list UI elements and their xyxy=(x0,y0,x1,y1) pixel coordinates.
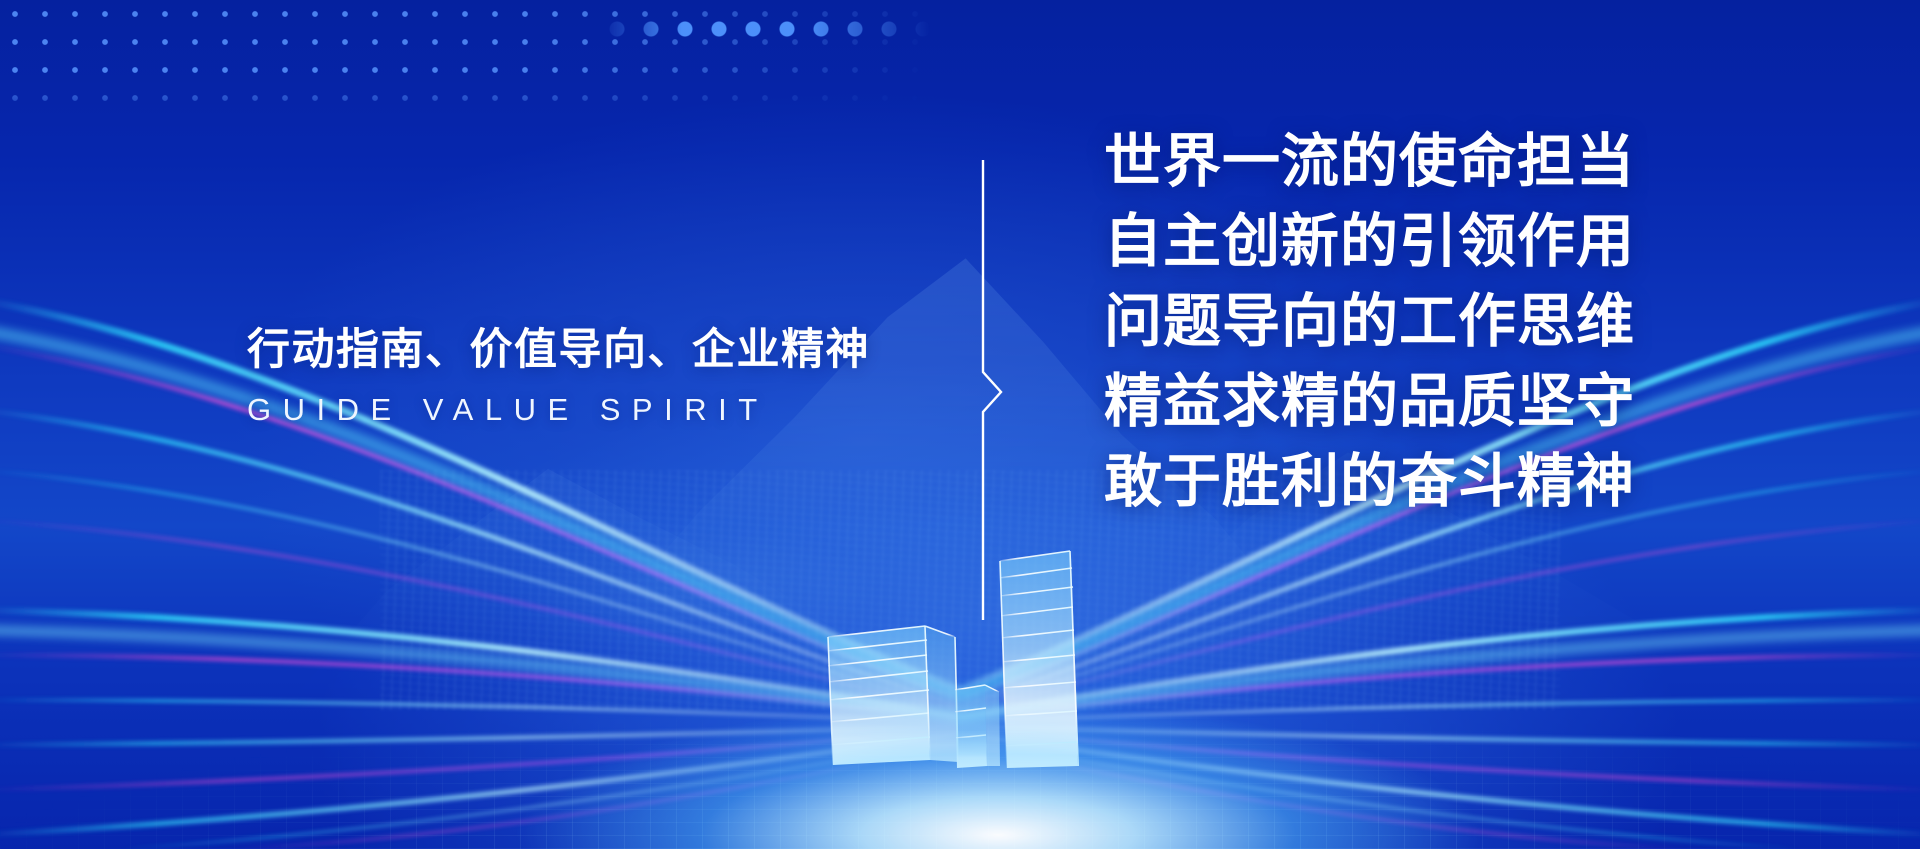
guide-value-spirit-title-cn: 行动指南、价值导向、企业精神 xyxy=(247,325,887,376)
culture-line-4: 精益求精的品质坚守 xyxy=(1104,362,1744,442)
culture-line-2: 自主创新的引领作用 xyxy=(1104,202,1744,282)
halftone-dots-large-icon xyxy=(600,12,930,46)
culture-line-3: 问题导向的工作思维 xyxy=(1104,282,1744,362)
right-text-block: 世界一流的使命担当 自主创新的引领作用 问题导向的工作思维 精益求精的品质坚守 … xyxy=(1104,122,1744,522)
floor-grid-icon xyxy=(0,639,1920,849)
vertical-line-with-right-chevron xyxy=(975,160,1015,620)
guide-value-spirit-subtitle-en: GUIDE VALUE SPIRIT xyxy=(247,392,887,428)
left-text-block: 行动指南、价值导向、企业精神 GUIDE VALUE SPIRIT xyxy=(247,325,887,428)
culture-line-5: 敢于胜利的奋斗精神 xyxy=(1104,442,1744,522)
corporate-culture-banner: 行动指南、价值导向、企业精神 GUIDE VALUE SPIRIT 世界一流的使… xyxy=(0,0,1920,849)
culture-line-1: 世界一流的使命担当 xyxy=(1104,122,1744,202)
